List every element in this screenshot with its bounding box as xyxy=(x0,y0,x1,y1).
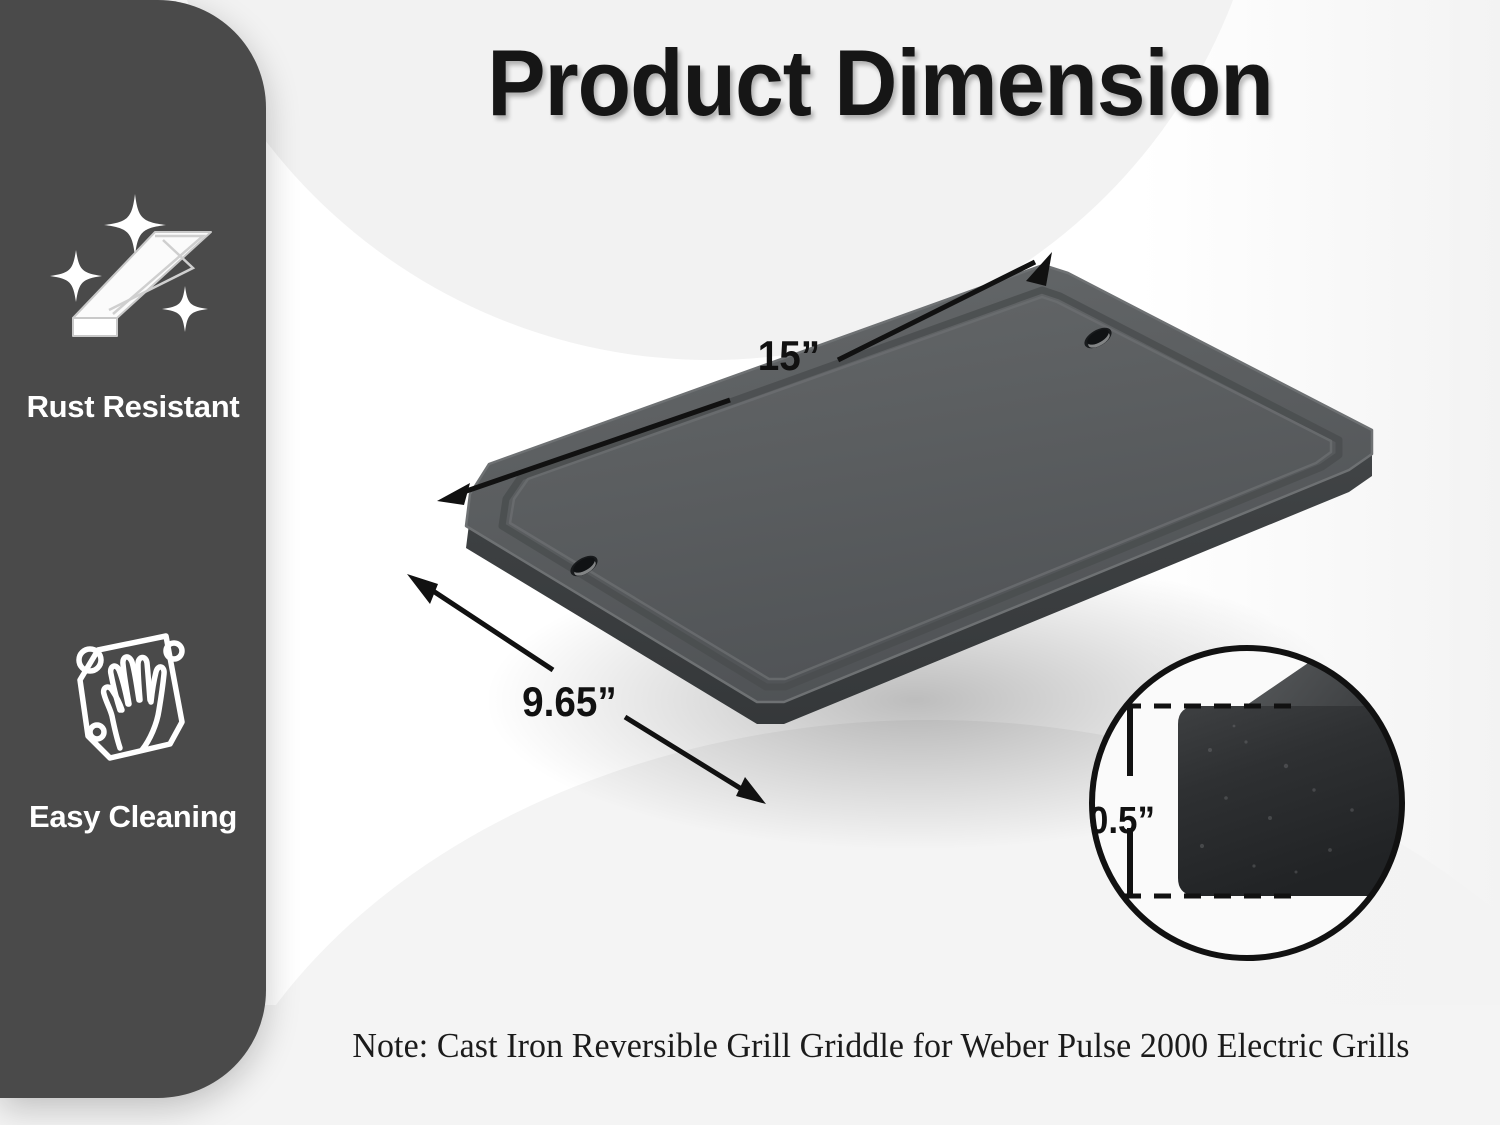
product-dimension-infographic: Rust Resistant xyxy=(0,0,1500,1125)
dimension-arrowhead-width-start xyxy=(407,574,438,604)
dimension-label-thickness: 0.5” xyxy=(1089,800,1155,843)
footer-note: Note: Cast Iron Reversible Grill Griddle… xyxy=(294,1026,1468,1066)
dimension-label-length: 15” xyxy=(758,332,820,380)
dimension-arrowhead-length-start xyxy=(437,483,470,505)
dimension-label-width: 9.65” xyxy=(522,678,617,726)
product-dimension-stage: 15” 9.65” 0.5” xyxy=(0,0,1500,1125)
